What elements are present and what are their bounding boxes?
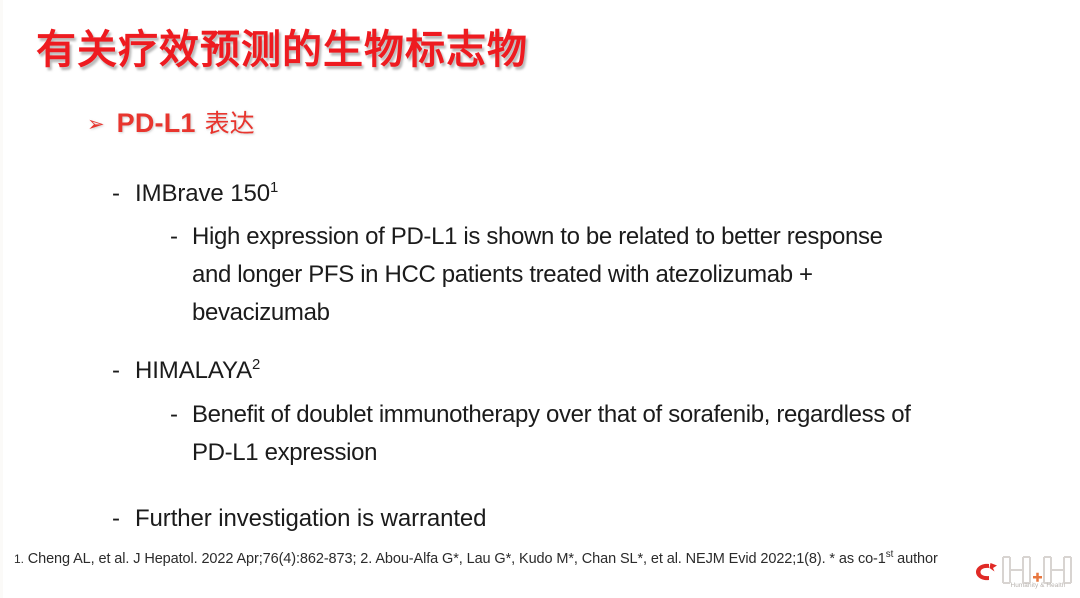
list-item-label: HIMALAYA bbox=[135, 357, 252, 384]
dash-marker: - bbox=[112, 180, 135, 208]
reference-superscript: 1 bbox=[270, 180, 278, 196]
footnote-references: 1. Cheng AL, et al. J Hepatol. 2022 Apr;… bbox=[14, 549, 944, 570]
dash-marker: - bbox=[170, 218, 178, 256]
page-title: 有关疗效预测的生物标志物 bbox=[36, 17, 528, 75]
footnote-text-tail: author bbox=[893, 551, 937, 567]
reference-superscript: 2 bbox=[252, 357, 260, 373]
dash-marker: - bbox=[112, 505, 135, 533]
footnote-text: Cheng AL, et al. J Hepatol. 2022 Apr;76(… bbox=[24, 551, 886, 567]
list-item-further-investigation: -Further investigation is warranted bbox=[112, 505, 486, 533]
list-item-himalaya: -HIMALAYA2 bbox=[112, 357, 260, 385]
list-item-label: IMBrave 150 bbox=[135, 180, 270, 207]
arrow-bullet-icon: ➢ bbox=[87, 112, 105, 136]
list-item-imbrave-detail: -High expression of PD-L1 is shown to be… bbox=[192, 218, 922, 332]
subheading-pd-l1: ➢PD-L1表达 bbox=[87, 104, 255, 140]
cs-logo-icon bbox=[974, 562, 1000, 582]
subheading-cjk: 表达 bbox=[205, 109, 255, 138]
list-item-himalaya-detail: -Benefit of doublet immunotherapy over t… bbox=[192, 396, 932, 472]
list-item-imbrave-150: -IMBrave 1501 bbox=[112, 180, 278, 208]
dash-marker: - bbox=[170, 396, 178, 434]
footnote-number: 1. bbox=[14, 552, 24, 566]
list-item-label: High expression of PD-L1 is shown to be … bbox=[192, 223, 883, 326]
dash-marker: - bbox=[112, 357, 135, 385]
list-item-label: Further investigation is warranted bbox=[135, 505, 486, 532]
presentation-slide: 有关疗效预测的生物标志物 ➢PD-L1表达 -IMBrave 1501 -Hig… bbox=[0, 0, 1080, 598]
hh-logo-caption: Humanity & Health bbox=[999, 582, 1077, 589]
list-item-label: Benefit of doublet immunotherapy over th… bbox=[192, 401, 911, 466]
logo-group: Humanity & Health bbox=[972, 549, 1076, 593]
subheading-latin: PD-L1 bbox=[117, 108, 196, 138]
